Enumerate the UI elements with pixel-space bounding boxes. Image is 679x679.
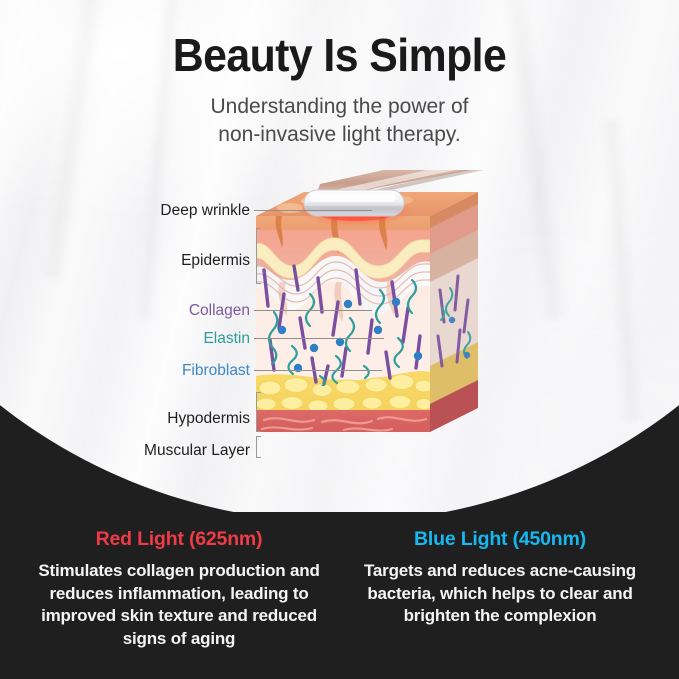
leader-fibroblast xyxy=(254,370,382,371)
red-light-title: Red Light (625nm) xyxy=(24,528,334,551)
skin-block-side-face xyxy=(430,192,478,432)
label-epidermis: Epidermis xyxy=(181,252,250,270)
bracket-muscular-layer xyxy=(256,436,257,458)
label-elastin: Elastin xyxy=(203,330,250,348)
label-collagen: Collagen xyxy=(189,302,250,320)
label-hypodermis: Hypodermis xyxy=(167,410,250,428)
page-title: Beauty Is Simple xyxy=(24,28,655,82)
red-light-panel: Red Light (625nm) Stimulates collagen pr… xyxy=(24,528,334,650)
label-muscular-layer: Muscular Layer xyxy=(144,442,250,460)
red-light-body: Stimulates collagen production and reduc… xyxy=(24,560,334,650)
bracket-hypodermis xyxy=(256,392,257,432)
bracket-epidermis xyxy=(256,228,257,284)
skin-cross-section-illustration xyxy=(252,170,502,460)
blue-light-title: Blue Light (450nm) xyxy=(345,528,655,551)
page-subtitle: Understanding the power of non-invasive … xyxy=(0,93,679,148)
leader-elastin xyxy=(254,338,384,339)
diagram-label-column: Deep wrinkle Epidermis Collagen Elastin … xyxy=(120,190,250,470)
infographic-poster: Beauty Is Simple Understanding the power… xyxy=(0,0,679,679)
label-deep-wrinkle: Deep wrinkle xyxy=(160,202,250,220)
blue-light-body: Targets and reduces acne-causing bacteri… xyxy=(345,560,655,628)
leader-deep-wrinkle xyxy=(254,210,372,211)
blue-light-panel: Blue Light (450nm) Targets and reduces a… xyxy=(345,528,655,628)
leader-collagen xyxy=(254,310,372,311)
label-fibroblast: Fibroblast xyxy=(182,362,250,380)
skin-diagram-svg xyxy=(252,170,502,460)
